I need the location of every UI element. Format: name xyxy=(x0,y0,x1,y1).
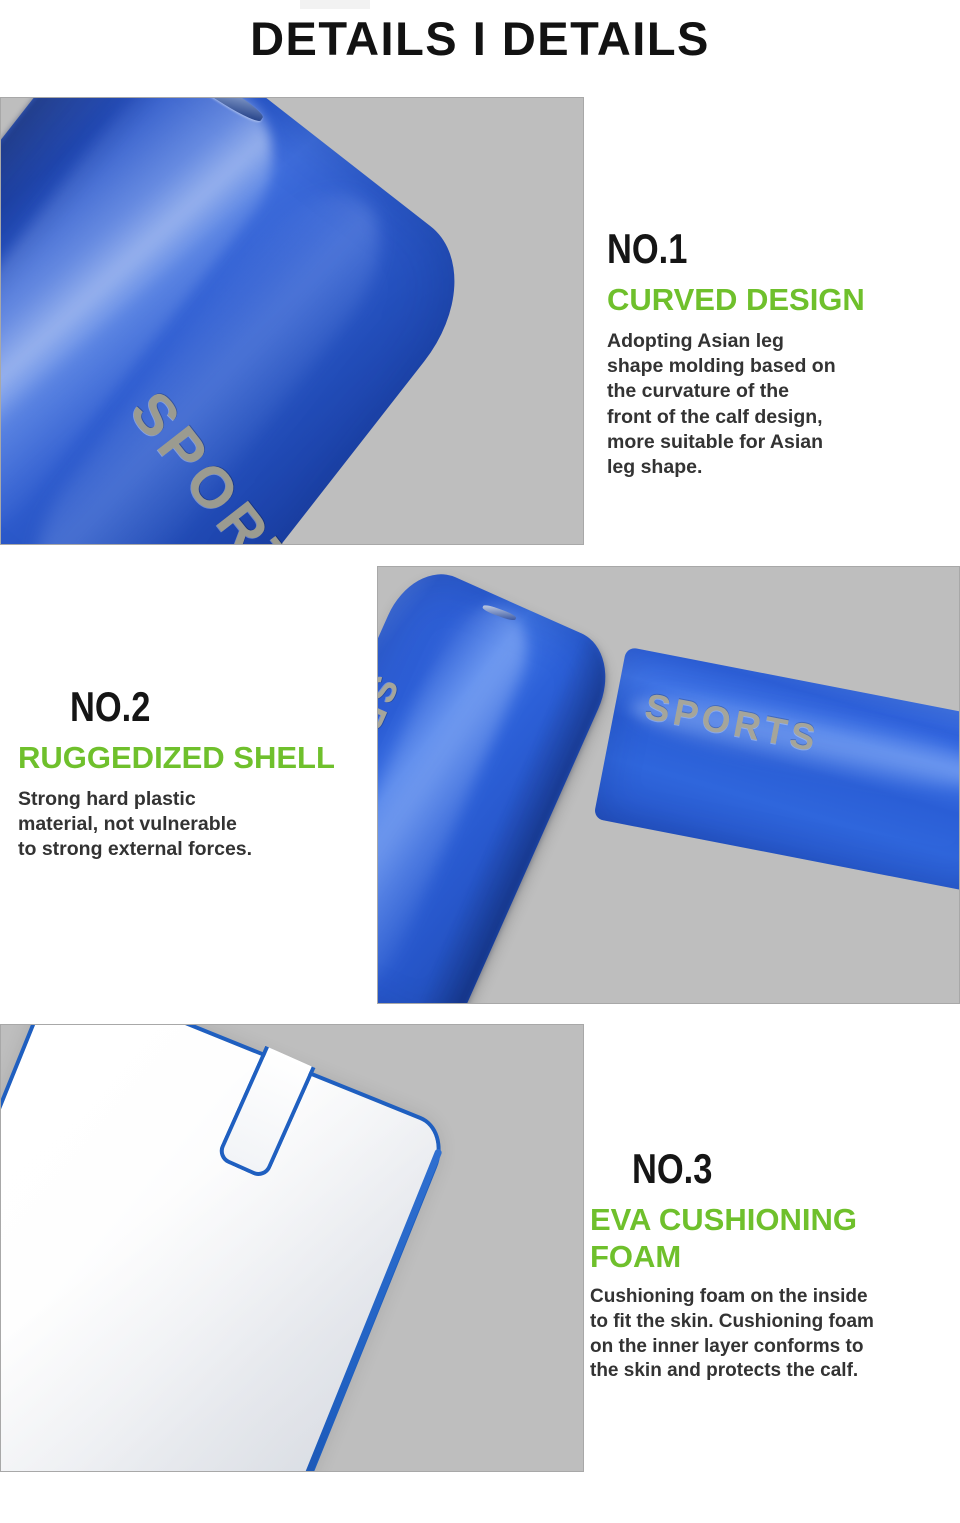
photo-3-canvas xyxy=(1,1025,583,1471)
product-detail-page: DETAILS I DETAILS SPORTS SPORTS xyxy=(0,0,960,1523)
product-photo-curved-design: SPORTS xyxy=(0,97,584,545)
photo-2-canvas: SPORTS SPORTS xyxy=(378,567,959,1003)
feature-number-2: NO.2 xyxy=(70,686,323,728)
feature-number-1: NO.1 xyxy=(607,228,863,270)
top-edge-artifact xyxy=(300,0,370,9)
shin-guard-rear-horizontal: SPORTS xyxy=(593,647,960,895)
feature-title-1: CURVED DESIGN xyxy=(607,282,919,319)
product-photo-ruggedized-shell: SPORTS SPORTS xyxy=(377,566,960,1004)
feature-body-1: Adopting Asian leg shape molding based o… xyxy=(607,329,919,481)
feature-number-3: NO.3 xyxy=(632,1148,897,1190)
product-photo-eva-foam xyxy=(0,1024,584,1472)
feature-block-3: NO.3 EVA CUSHIONING FOAM Cushioning foam… xyxy=(590,1148,955,1384)
feature-title-3: EVA CUSHIONING FOAM xyxy=(590,1202,955,1275)
feature-title-2: RUGGEDIZED SHELL xyxy=(18,740,378,777)
page-title: DETAILS I DETAILS xyxy=(0,14,960,63)
shin-guard-front-vertical: SPORTS xyxy=(377,566,624,1004)
photo-1-canvas: SPORTS xyxy=(1,98,583,544)
feature-body-2: Strong hard plastic material, not vulner… xyxy=(18,787,378,863)
feature-block-1: NO.1 CURVED DESIGN Adopting Asian leg sh… xyxy=(607,228,919,481)
foam-surface-sheen xyxy=(0,1024,447,1472)
shin-guard-inner-foam xyxy=(0,1024,453,1472)
feature-block-2: NO.2 RUGGEDIZED SHELL Strong hard plasti… xyxy=(18,686,378,863)
feature-body-3: Cushioning foam on the inside to fit the… xyxy=(590,1285,955,1384)
